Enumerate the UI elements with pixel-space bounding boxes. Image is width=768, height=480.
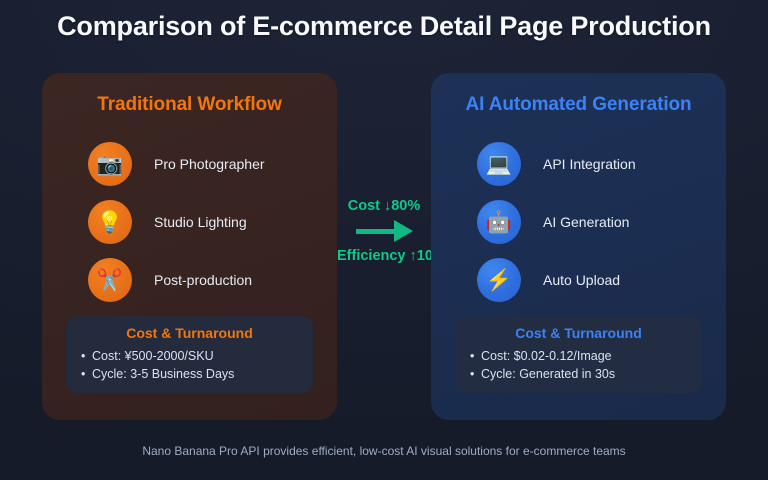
cost-box-item: Cycle: Generated in 30s <box>470 365 702 383</box>
feature-row: 💡 Studio Lighting <box>42 193 337 251</box>
arrow-shaft <box>356 229 394 234</box>
infographic-canvas: Comparison of E-commerce Detail Page Pro… <box>0 0 768 480</box>
cost-reduction-metric: Cost ↓80% <box>337 198 431 214</box>
feature-label: Auto Upload <box>543 272 620 288</box>
camera-icon: 📷 <box>88 142 132 186</box>
scissors-icon: ✂️ <box>88 258 132 302</box>
traditional-feature-list: 📷 Pro Photographer 💡 Studio Lighting ✂️ … <box>42 135 337 309</box>
ai-feature-list: 💻 API Integration 🤖 AI Generation ⚡ Auto… <box>431 135 726 309</box>
page-title: Comparison of E-commerce Detail Page Pro… <box>0 11 768 42</box>
ai-generation-heading: AI Automated Generation <box>431 94 726 116</box>
ai-automated-generation-panel: AI Automated Generation 💻 API Integratio… <box>431 73 726 420</box>
laptop-icon: 💻 <box>477 142 521 186</box>
feature-row: 🤖 AI Generation <box>431 193 726 251</box>
cost-box-title: Cost & Turnaround <box>66 325 313 341</box>
footer-caption: Nano Banana Pro API provides efficient, … <box>0 444 768 458</box>
feature-row: ✂️ Post-production <box>42 251 337 309</box>
feature-label: API Integration <box>543 156 636 172</box>
right-arrow-icon <box>337 222 431 240</box>
efficiency-gain-metric: Efficiency ↑10x <box>337 248 431 264</box>
robot-icon: 🤖 <box>477 200 521 244</box>
traditional-workflow-panel: Traditional Workflow 📷 Pro Photographer … <box>42 73 337 420</box>
arrow-head <box>394 220 413 242</box>
feature-label: Post-production <box>154 272 252 288</box>
cost-box-list: Cost: ¥500-2000/SKU Cycle: 3-5 Business … <box>66 347 313 383</box>
feature-label: Pro Photographer <box>154 156 265 172</box>
feature-row: ⚡ Auto Upload <box>431 251 726 309</box>
feature-row: 📷 Pro Photographer <box>42 135 337 193</box>
cost-box-item: Cost: ¥500-2000/SKU <box>81 347 313 365</box>
feature-label: AI Generation <box>543 214 629 230</box>
feature-row: 💻 API Integration <box>431 135 726 193</box>
traditional-cost-box: Cost & Turnaround Cost: ¥500-2000/SKU Cy… <box>66 316 313 393</box>
cost-box-item: Cycle: 3-5 Business Days <box>81 365 313 383</box>
feature-label: Studio Lighting <box>154 214 247 230</box>
comparison-metrics: Cost ↓80% Efficiency ↑10x <box>337 198 431 264</box>
cost-box-list: Cost: $0.02-0.12/Image Cycle: Generated … <box>455 347 702 383</box>
cost-box-title: Cost & Turnaround <box>455 325 702 341</box>
lightbulb-icon: 💡 <box>88 200 132 244</box>
traditional-workflow-heading: Traditional Workflow <box>42 94 337 116</box>
ai-cost-box: Cost & Turnaround Cost: $0.02-0.12/Image… <box>455 316 702 393</box>
lightning-bolt-icon: ⚡ <box>477 258 521 302</box>
cost-box-item: Cost: $0.02-0.12/Image <box>470 347 702 365</box>
